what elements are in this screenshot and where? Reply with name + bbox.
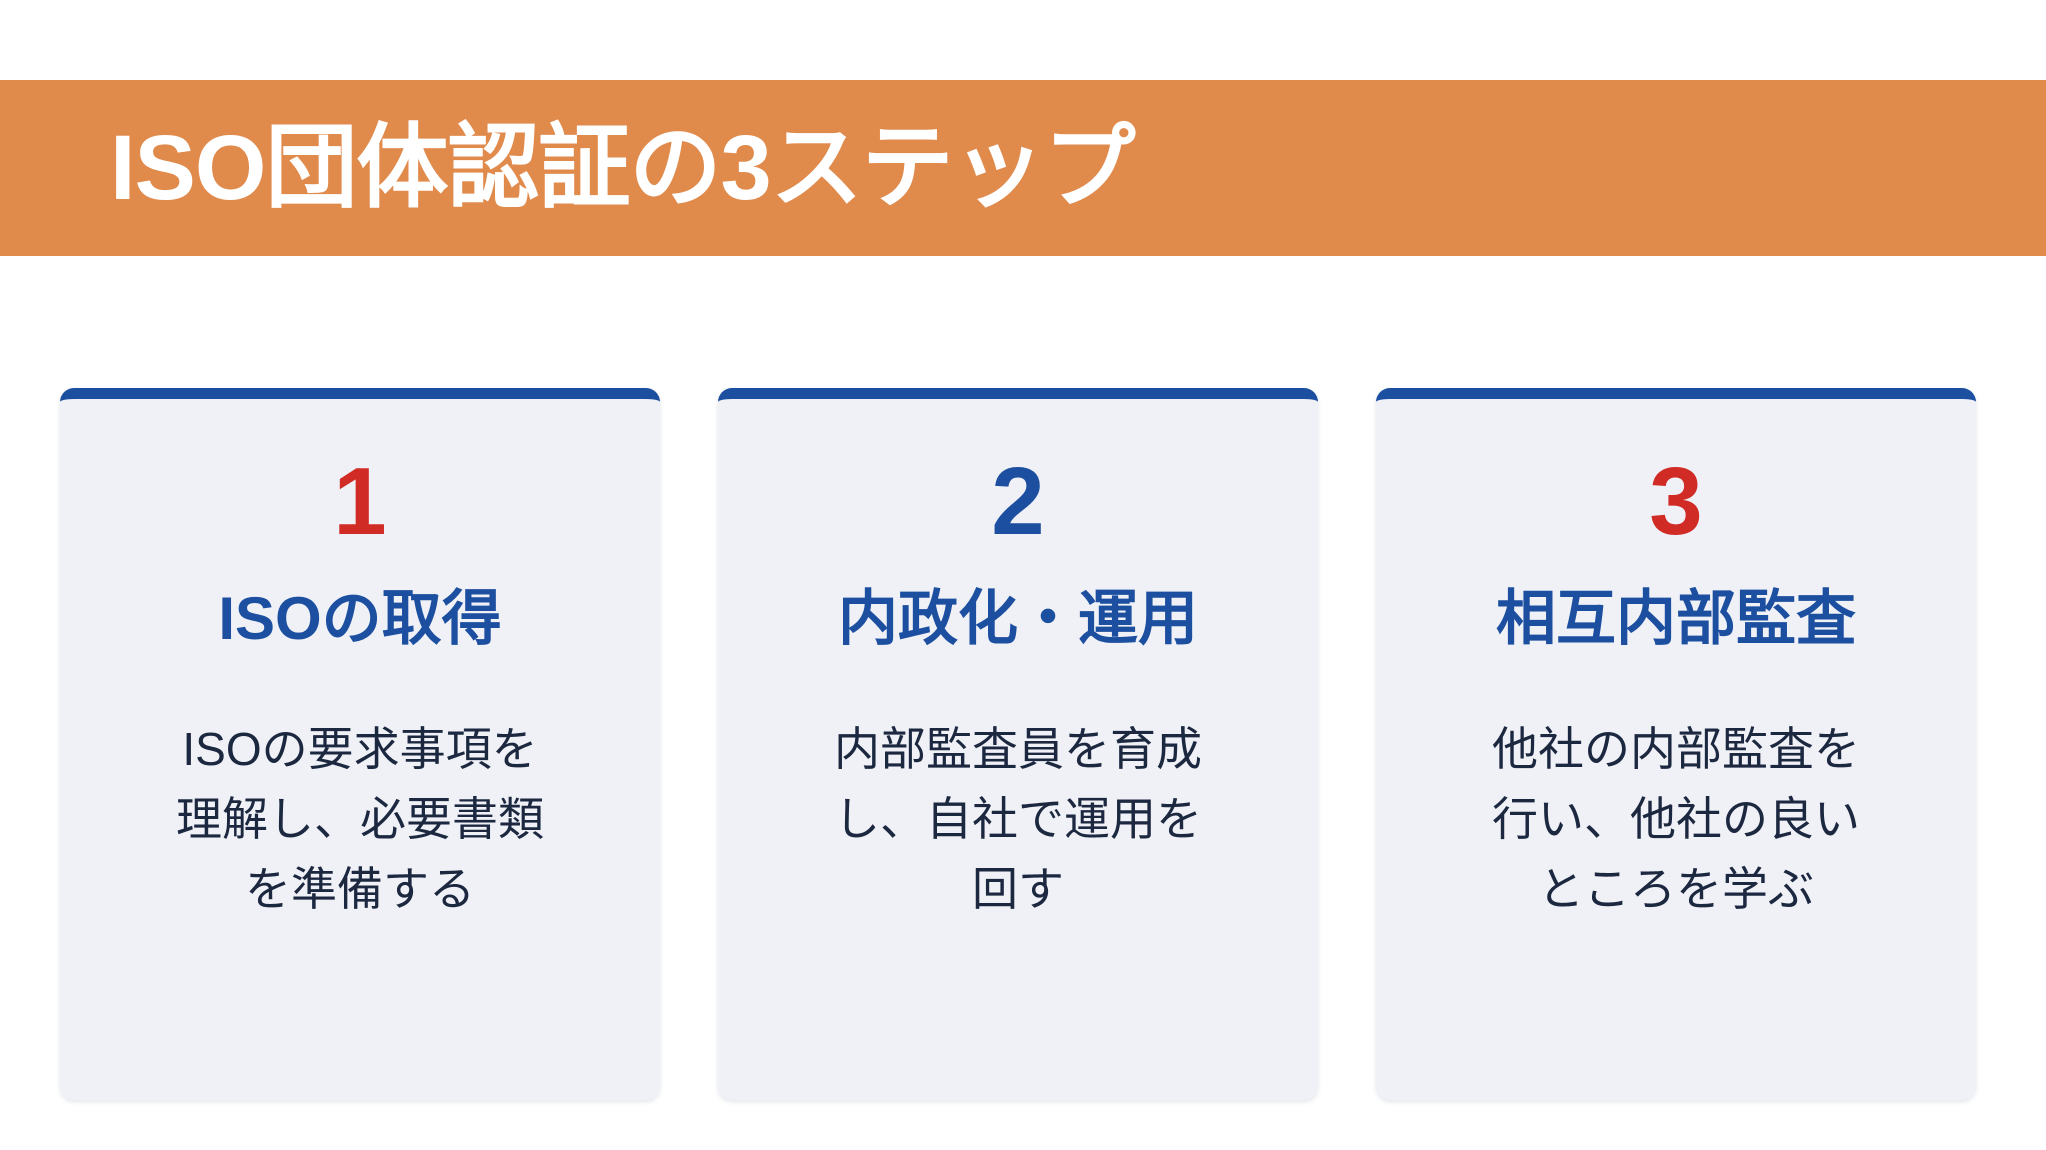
step-card-2[interactable]: 2 内政化・運用 内部監査員を育成 し、自社で運用を 回す bbox=[718, 388, 1318, 1100]
step-number-1: 1 bbox=[333, 454, 386, 550]
step-body-line: 内部監査員を育成 bbox=[803, 715, 1233, 785]
step-title-1: ISOの取得 bbox=[218, 584, 501, 653]
step-body-3: 他社の内部監査を 行い、他社の良い ところを学ぶ bbox=[1461, 715, 1891, 925]
step-body-1: ISOの要求事項を 理解し、必要書類 を準備する bbox=[145, 715, 575, 925]
page-title: ISO団体認証の3ステップ bbox=[110, 122, 1135, 214]
step-body-line: ISOの要求事項を bbox=[145, 715, 575, 785]
step-body-2: 内部監査員を育成 し、自社で運用を 回す bbox=[803, 715, 1233, 925]
step-body-line: し、自社で運用を bbox=[803, 785, 1233, 855]
step-body-line: 理解し、必要書類 bbox=[145, 785, 575, 855]
header-band: ISO団体認証の3ステップ bbox=[0, 80, 2046, 256]
step-card-3[interactable]: 3 相互内部監査 他社の内部監査を 行い、他社の良い ところを学ぶ bbox=[1376, 388, 1976, 1100]
slide-canvas: ISO団体認証の3ステップ 1 ISOの取得 ISOの要求事項を 理解し、必要書… bbox=[0, 0, 2046, 1150]
steps-container: 1 ISOの取得 ISOの要求事項を 理解し、必要書類 を準備する 2 内政化・… bbox=[60, 388, 1976, 1100]
step-body-line: ところを学ぶ bbox=[1461, 855, 1891, 925]
step-title-2: 内政化・運用 bbox=[838, 584, 1198, 653]
step-body-line: 回す bbox=[803, 855, 1233, 925]
step-body-line: 他社の内部監査を bbox=[1461, 715, 1891, 785]
step-title-3: 相互内部監査 bbox=[1496, 584, 1856, 653]
step-number-2: 2 bbox=[991, 454, 1044, 550]
step-body-line: 行い、他社の良い bbox=[1461, 785, 1891, 855]
step-card-1[interactable]: 1 ISOの取得 ISOの要求事項を 理解し、必要書類 を準備する bbox=[60, 388, 660, 1100]
step-body-line: を準備する bbox=[145, 855, 575, 925]
step-number-3: 3 bbox=[1649, 454, 1702, 550]
